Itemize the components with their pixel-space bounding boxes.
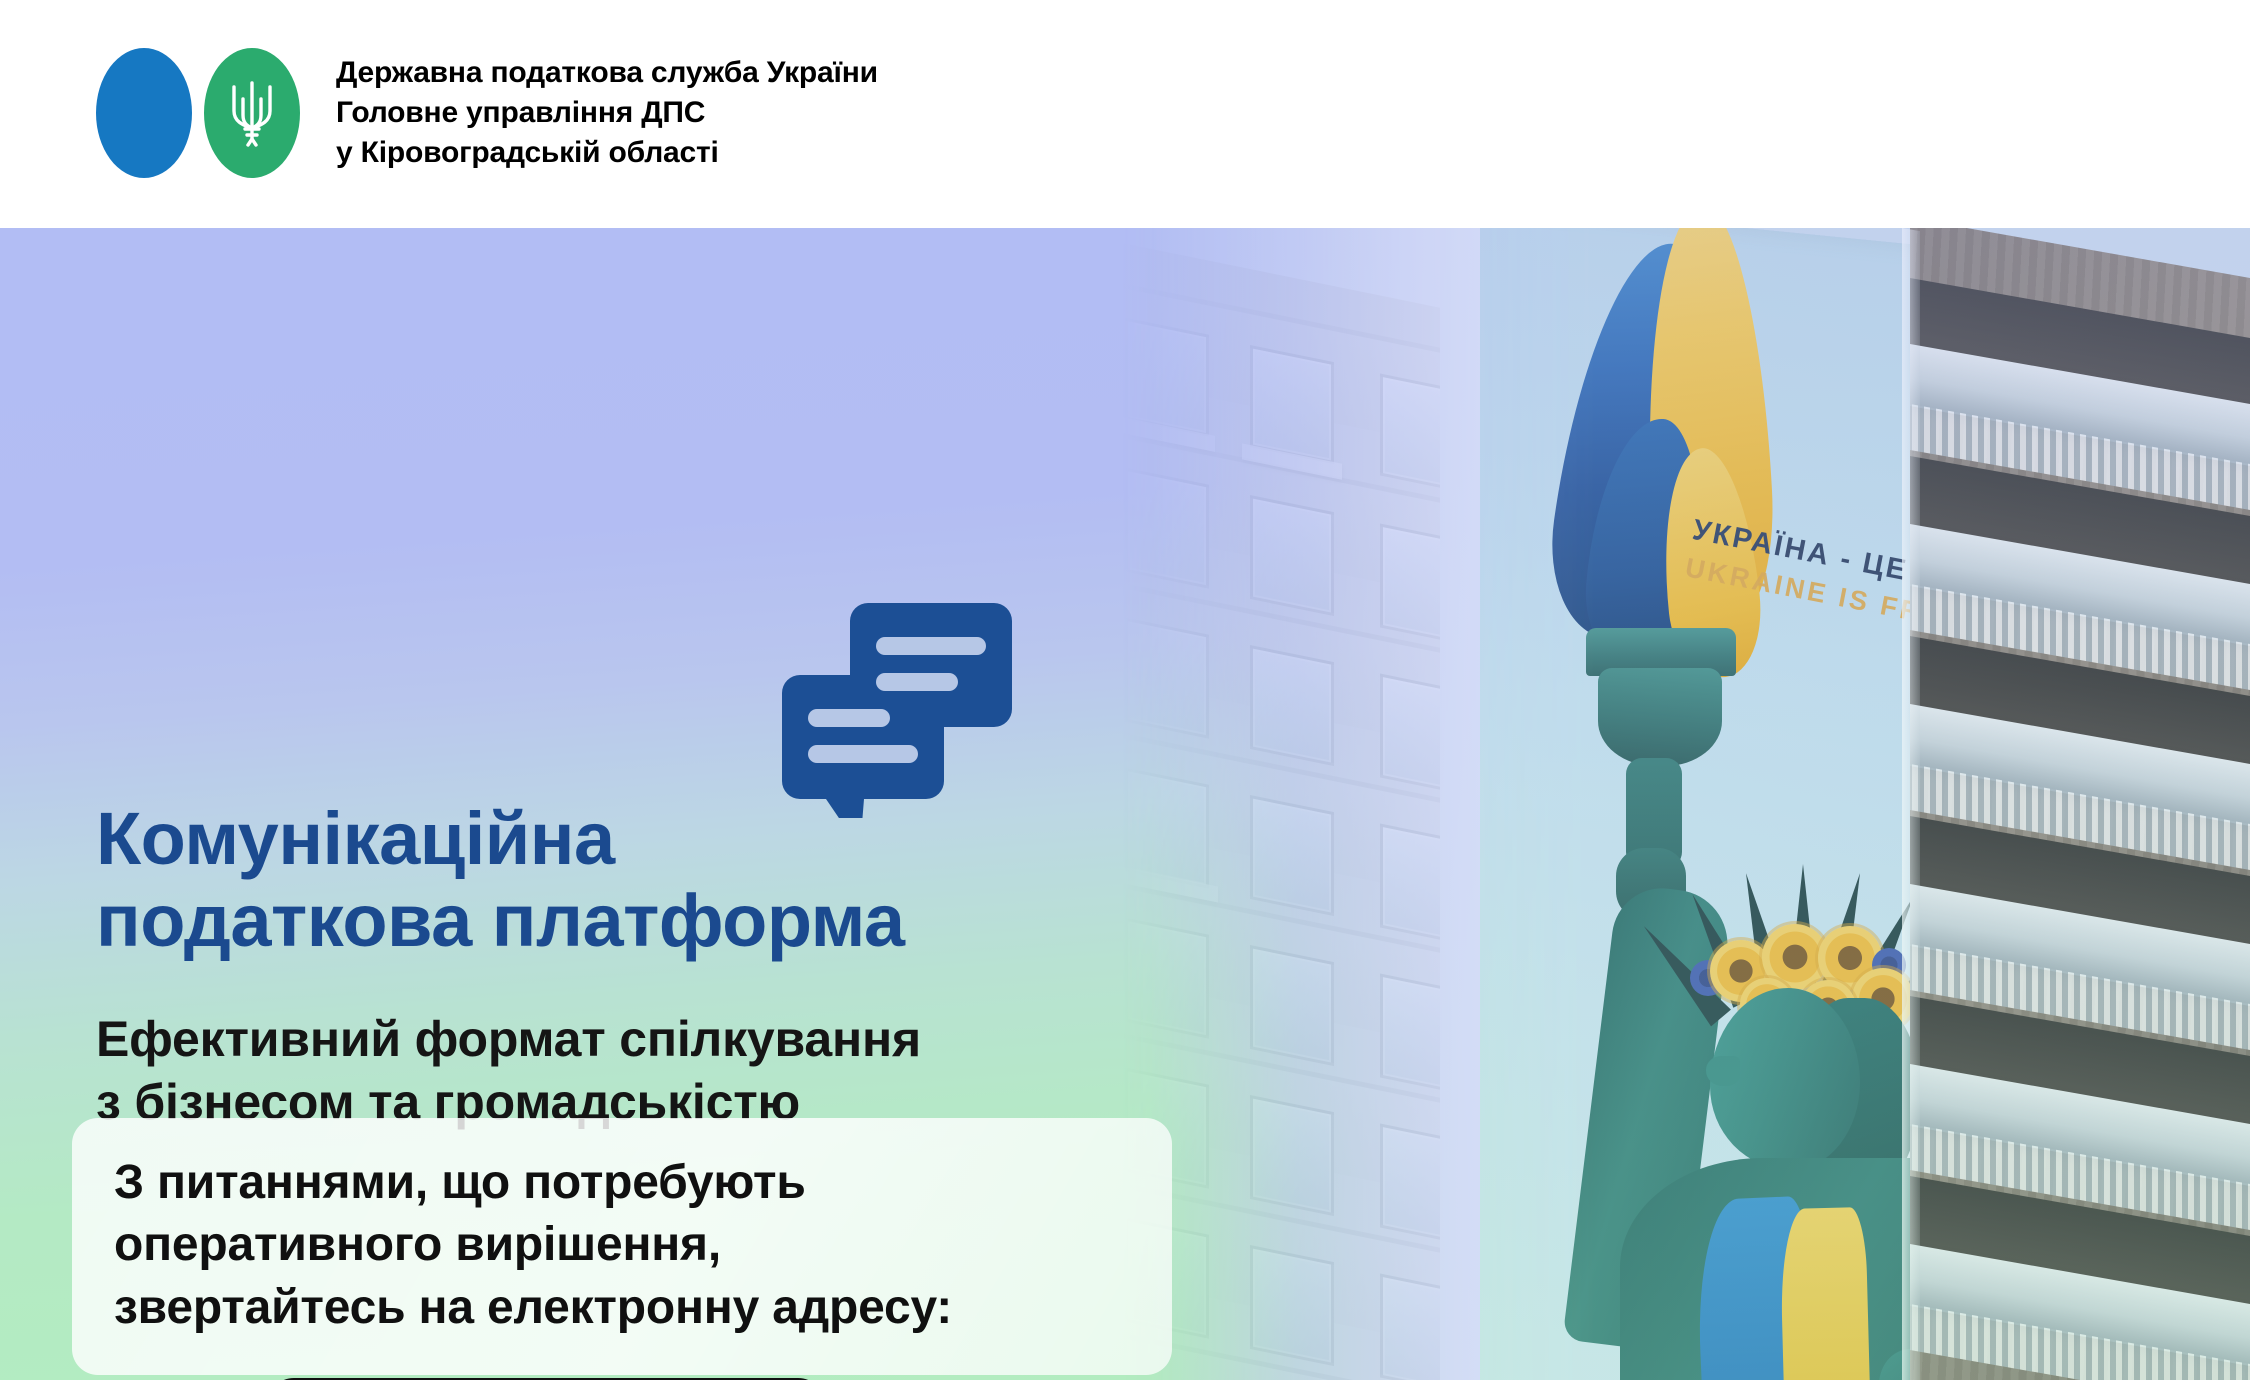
- headline-line-2: податкова платформа: [96, 880, 1216, 963]
- organization-title: Державна податкова служба України Головн…: [336, 53, 878, 174]
- poster-root: Державна податкова служба України Головн…: [0, 0, 2250, 1380]
- instruction-card: З питаннями, що потребують оперативного …: [72, 1118, 1172, 1375]
- note-line-1: З питаннями, що потребують: [114, 1152, 1132, 1214]
- page-title: Комунікаційна податкова платформа: [96, 798, 1216, 964]
- org-line-2: Головне управління ДПС: [336, 93, 878, 133]
- note-line-2: оперативного вирішення,: [114, 1214, 1132, 1276]
- right-brick-tower: [1910, 228, 2250, 1380]
- statue-face-profile: [1706, 1056, 1740, 1086]
- photo-inner: УКРАЇНА - ЦЕ СВОБОДА UKRAINE IS FREEDOM: [1120, 228, 2250, 1380]
- tower-edge-highlight: [1902, 228, 1920, 1380]
- hero-content: Комунікаційна податкова платформа Ефекти…: [0, 228, 1250, 1380]
- mural-photograph: УКРАЇНА - ЦЕ СВОБОДА UKRAINE IS FREEDOM: [1120, 228, 2250, 1380]
- page-subtitle: Ефективний формат спілкування з бізнесом…: [96, 1008, 1226, 1134]
- ukrainian-trident-icon: [223, 77, 281, 149]
- hero-canvas: УКРАЇНА - ЦЕ СВОБОДА UKRAINE IS FREEDOM: [0, 228, 2250, 1380]
- subtitle-line-1: Ефективний формат спілкування: [96, 1011, 921, 1067]
- headline-line-1: Комунікаційна: [96, 797, 615, 880]
- flag-sash-yellow: [1779, 1207, 1875, 1380]
- org-line-1: Державна податкова служба України: [336, 53, 878, 93]
- logo-ellipse-blue-icon: [96, 48, 192, 178]
- org-line-3: у Кіровоградській області: [336, 133, 878, 173]
- note-line-3: звертайтесь на електронну адресу:: [114, 1277, 1132, 1339]
- torch-cup: [1598, 668, 1722, 766]
- chat-bubbles-icon: [782, 603, 1012, 818]
- header-bar: Державна податкова служба України Головн…: [0, 0, 2250, 228]
- mural-wall: УКРАЇНА - ЦЕ СВОБОДА UKRAINE IS FREEDOM: [1440, 228, 1940, 1380]
- organization-logo: Державна податкова служба України Головн…: [96, 48, 878, 178]
- logo-ellipse-green-icon: [204, 48, 300, 178]
- mural-artwork: УКРАЇНА - ЦЕ СВОБОДА UKRAINE IS FREEDOM: [1440, 228, 1940, 1380]
